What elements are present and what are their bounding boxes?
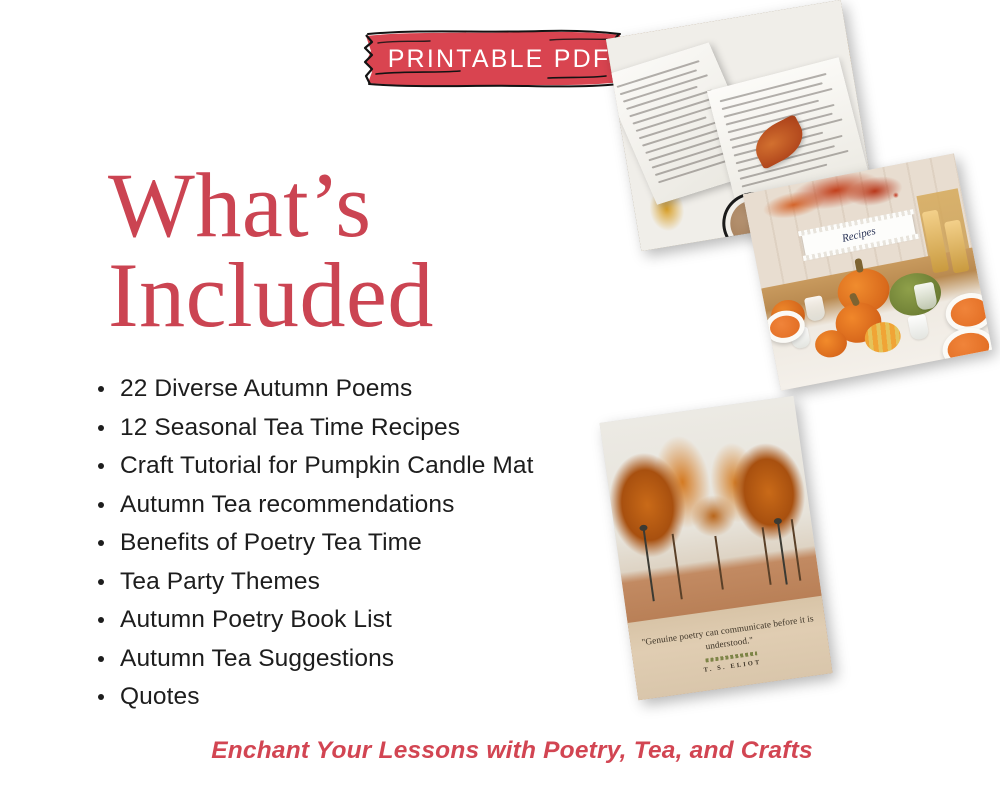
list-item: 12 Seasonal Tea Time Recipes [96, 409, 636, 448]
page-title-line-1: What’s [108, 160, 578, 250]
tree-trunk [762, 527, 772, 585]
badge-label: PRINTABLE PDF [352, 26, 632, 92]
list-item: Tea Party Themes [96, 563, 636, 602]
photo-recipes-image: Recipes [743, 153, 992, 390]
list-item: Benefits of Poetry Tea Time [96, 524, 636, 563]
bullet-icon [98, 425, 104, 431]
poster-canvas: PRINTABLE PDF What’s Included 22 Diverse… [0, 0, 1000, 800]
lamp-post-icon [643, 530, 655, 602]
list-item-label: 22 Diverse Autumn Poems [120, 375, 412, 402]
list-item-label: Quotes [120, 683, 200, 710]
recipes-label-text: Recipes [841, 225, 877, 245]
list-item-label: Benefits of Poetry Tea Time [120, 529, 422, 556]
list-item-label: 12 Seasonal Tea Time Recipes [120, 414, 460, 441]
bullet-icon [98, 540, 104, 546]
bullet-icon [98, 617, 104, 623]
tagline: Enchant Your Lessons with Poetry, Tea, a… [0, 737, 1000, 765]
quote-band: "Genuine poetry can communicate before i… [628, 596, 833, 701]
list-item-label: Craft Tutorial for Pumpkin Candle Mat [120, 452, 534, 479]
bullet-icon [98, 502, 104, 508]
list-item: Craft Tutorial for Pumpkin Candle Mat [96, 447, 636, 486]
list-item: Autumn Tea recommendations [96, 486, 636, 525]
list-item-label: Autumn Poetry Book List [120, 606, 392, 633]
bullet-icon [98, 463, 104, 469]
list-item: Quotes [96, 678, 636, 717]
list-item-label: Autumn Tea Suggestions [120, 645, 394, 672]
tree-trunk [672, 534, 683, 600]
bullet-icon [98, 656, 104, 662]
bullet-icon [98, 694, 104, 700]
page-title: What’s Included [108, 160, 578, 340]
list-item-label: Autumn Tea recommendations [120, 491, 454, 518]
photo-autumn-table-setting-recipes: Recipes [743, 153, 992, 390]
page-title-line-2: Included [108, 250, 578, 340]
recipes-label-tag: Recipes [802, 213, 917, 258]
list-item: Autumn Tea Suggestions [96, 640, 636, 679]
photo-collage: Recipes "Genuine poetry can communicate … [600, 0, 1000, 740]
lamp-post-icon [777, 523, 788, 585]
list-item-label: Tea Party Themes [120, 568, 320, 595]
photo-quote-image: "Genuine poetry can communicate before i… [599, 396, 832, 701]
list-item: 22 Diverse Autumn Poems [96, 370, 636, 409]
bullet-icon [98, 579, 104, 585]
tree-trunk [791, 519, 802, 581]
list-item: Autumn Poetry Book List [96, 601, 636, 640]
printable-pdf-badge: PRINTABLE PDF [352, 26, 632, 92]
included-features-list: 22 Diverse Autumn Poems 12 Seasonal Tea … [96, 370, 636, 717]
photo-autumn-park-path-quote: "Genuine poetry can communicate before i… [599, 396, 832, 701]
bullet-icon [98, 386, 104, 392]
tree-trunk [714, 536, 723, 590]
